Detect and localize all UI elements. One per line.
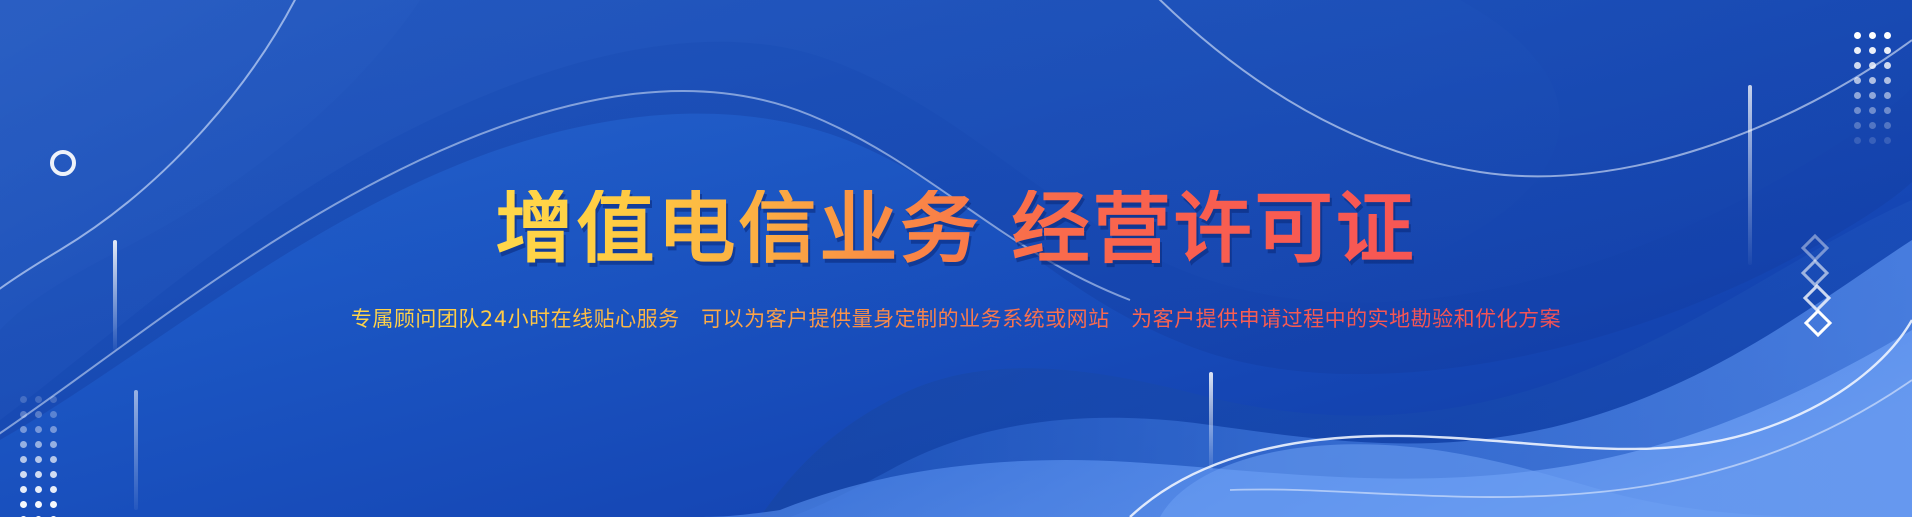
dot-grid-top-right <box>1854 32 1891 144</box>
vertical-line-bottom-mid <box>1209 372 1213 470</box>
dot-grid-bottom-left <box>20 396 57 517</box>
ring-decor-icon <box>50 150 76 176</box>
background-artwork <box>0 0 1912 517</box>
promo-banner: 增值电信业务 经营许可证 专属顾问团队24小时在线贴心服务 可以为客户提供量身定… <box>0 0 1912 517</box>
vertical-line-bottom-left <box>134 390 138 510</box>
vertical-line-right-top <box>1748 85 1752 265</box>
vertical-line-left <box>113 240 117 350</box>
